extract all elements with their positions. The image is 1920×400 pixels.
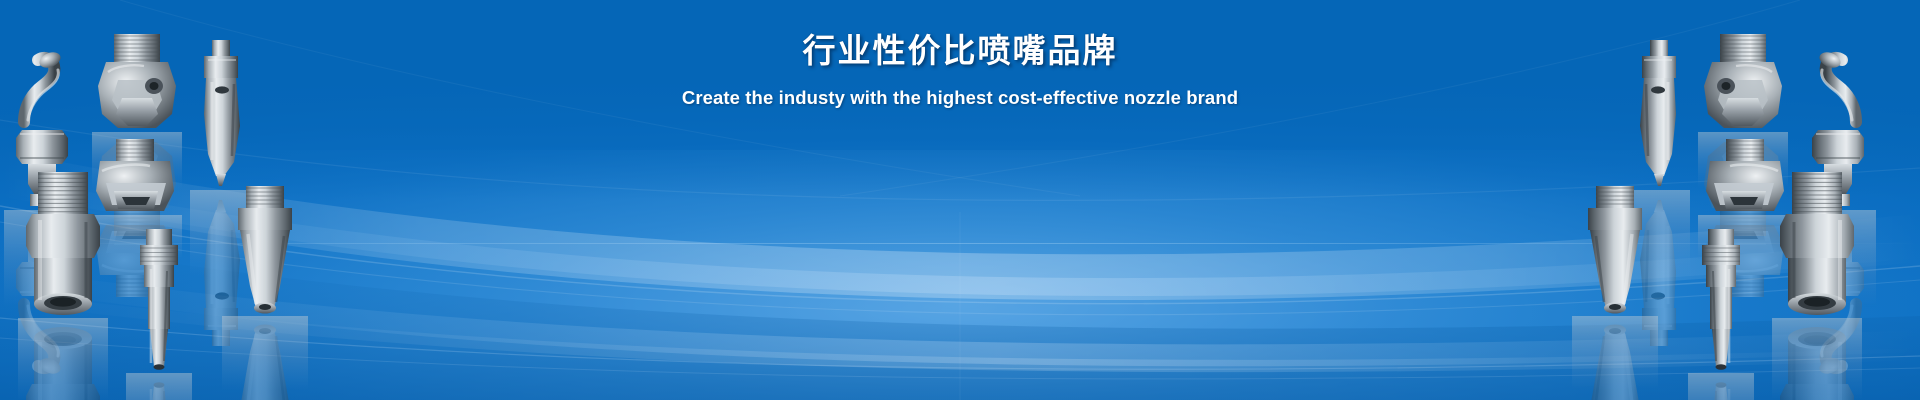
banner-text-block: 行业性价比喷嘴品牌 Create the industy with the hi…	[0, 32, 1920, 109]
hex-coupling-nozzle-right	[1772, 168, 1862, 400]
needle-nozzle-right-body	[1702, 229, 1740, 370]
cone-nozzle	[222, 182, 308, 390]
cone-nozzle-body	[238, 186, 292, 314]
hex-coupling-nozzle-right-body	[1780, 172, 1854, 315]
cone-nozzle-right	[1572, 182, 1658, 390]
hex-coupling-nozzle-body	[26, 172, 100, 315]
needle-nozzle	[126, 225, 192, 400]
page-title: 行业性价比喷嘴品牌	[0, 32, 1920, 70]
hero-banner: 行业性价比喷嘴品牌 Create the industy with the hi…	[0, 0, 1920, 400]
cone-nozzle-right-body	[1588, 186, 1642, 314]
needle-nozzle-body	[140, 229, 178, 370]
page-subtitle: Create the industy with the highest cost…	[0, 87, 1920, 109]
hex-coupling-nozzle	[18, 168, 108, 400]
needle-nozzle-right	[1688, 225, 1754, 400]
